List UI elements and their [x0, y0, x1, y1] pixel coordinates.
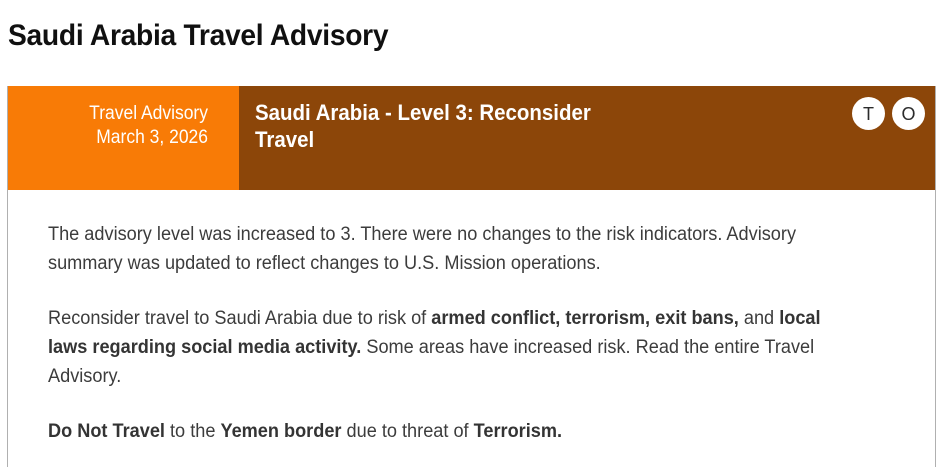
do-not-travel-paragraph: Do Not Travel to the Yemen border due to… [48, 417, 855, 446]
emphasis-text: Terrorism. [474, 421, 562, 442]
page-title: Saudi Arabia Travel Advisory [8, 18, 388, 54]
emphasis-text: Yemen border [220, 421, 341, 442]
translate-button[interactable]: T [852, 97, 885, 130]
change-summary-paragraph: The advisory level was increased to 3. T… [48, 220, 855, 278]
advisory-level-title: Saudi Arabia - Level 3: Reconsider Trave… [255, 99, 608, 153]
advisory-kind-label: Travel Advisory [33, 102, 208, 126]
body-text: to the [165, 421, 220, 442]
body-text: and [739, 308, 779, 329]
body-text: due to threat of [341, 421, 473, 442]
emphasis-text: Do Not Travel [48, 421, 165, 442]
advisory-body: The advisory level was increased to 3. T… [8, 190, 935, 446]
advisory-page: Saudi Arabia Travel Advisory Travel Advi… [0, 0, 943, 475]
advisory-title-block: Saudi Arabia - Level 3: Reconsider Trave… [239, 86, 935, 190]
advisory-card: Travel Advisory March 3, 2026 Saudi Arab… [7, 86, 936, 467]
advisory-date-block: Travel Advisory March 3, 2026 [8, 86, 239, 190]
emphasis-text: armed conflict, terrorism, exit bans, [431, 308, 739, 329]
options-button[interactable]: O [892, 97, 925, 130]
advisory-summary-paragraph: Reconsider travel to Saudi Arabia due to… [48, 304, 855, 391]
header-actions: T O [852, 97, 925, 130]
advisory-date-label: March 3, 2026 [33, 126, 208, 150]
body-text: The advisory level was increased to 3. T… [48, 224, 796, 274]
advisory-header: Travel Advisory March 3, 2026 Saudi Arab… [8, 86, 935, 190]
body-text: Reconsider travel to Saudi Arabia due to… [48, 308, 431, 329]
